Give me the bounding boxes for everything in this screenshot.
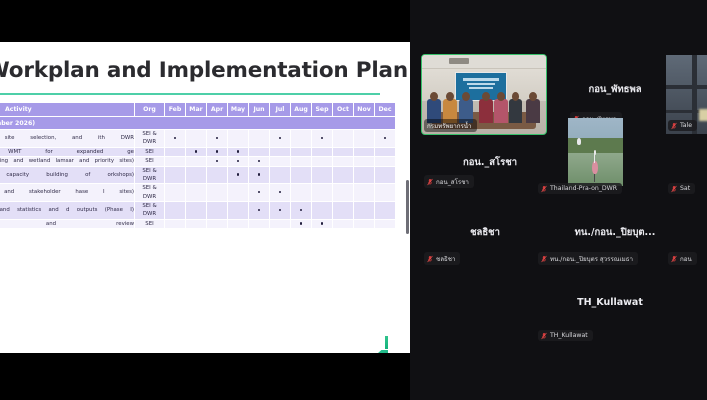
name-card-thailand-praon-dwr: Thailand-Pra-on_DWR: [538, 183, 622, 194]
schedule-dot-icon: [300, 222, 303, 225]
name-card-label: ชลธิชา: [436, 254, 455, 264]
wetland-program-logo: [358, 350, 388, 353]
table-body: eptember 2026)ion, site selection, and i…: [0, 117, 396, 229]
month-cell-oct: [333, 184, 354, 202]
schedule-dot-icon: [258, 209, 261, 212]
table-header-apr: Apr: [207, 103, 228, 117]
name-card-th-kullawat: TH_Kullawat: [538, 330, 593, 341]
month-cell-oct: [333, 147, 354, 156]
month-cell-nov: [354, 219, 375, 228]
name-card-kon-sarocha: กอน_สโรชา: [424, 175, 474, 188]
month-cell-aug: [291, 157, 312, 166]
activity-cell: and capacity building of orkshops): [0, 166, 135, 184]
month-cell-mar: [186, 184, 207, 202]
month-cell-dec: [375, 219, 396, 228]
month-cell-sep: [312, 147, 333, 156]
table-header-activity: Activity: [0, 103, 135, 117]
participant-gallery[interactable]: กรมทรัพยากรน้ำกอน_พัทธพลกอน_พัทธพลTaleกอ…: [410, 0, 707, 400]
schedule-dot-icon: [300, 209, 303, 212]
month-cell-jul: [270, 166, 291, 184]
participant-name-kon-phatthaphon: กอน_พัทธพล: [550, 82, 680, 97]
month-cell-mar: [186, 157, 207, 166]
month-cell-oct: [333, 202, 354, 220]
month-cell-sep: [312, 130, 333, 148]
schedule-dot-icon: [258, 173, 261, 176]
month-cell-aug: [291, 130, 312, 148]
table-header-jul: Jul: [270, 103, 291, 117]
month-cell-may: [228, 202, 249, 220]
month-cell-oct: [333, 157, 354, 166]
video-tile-thailand-praon-dwr[interactable]: [568, 118, 623, 186]
month-cell-aug: [291, 219, 312, 228]
schedule-dot-icon: [195, 150, 198, 153]
activity-cell: of WMT for expanded ge: [0, 147, 135, 156]
month-cell-mar: [186, 202, 207, 220]
month-cell-apr: [207, 166, 228, 184]
month-cell-jun: [249, 166, 270, 184]
slide-title: Workplan and Implementation Plan: [0, 58, 386, 83]
schedule-dot-icon: [321, 137, 324, 140]
month-cell-jul: [270, 219, 291, 228]
month-cell-feb: [165, 147, 186, 156]
month-cell-apr: [207, 202, 228, 220]
schedule-dot-icon: [258, 160, 261, 163]
name-card-label: กอน: [680, 254, 692, 264]
month-cell-feb: [165, 202, 186, 220]
month-cell-dec: [375, 202, 396, 220]
name-card-chonthicha: ชลธิชา: [424, 252, 460, 265]
month-cell-may: [228, 157, 249, 166]
schedule-dot-icon: [279, 209, 282, 212]
gallery-scrollbar[interactable]: [406, 180, 409, 234]
activity-cell: ion, site selection, and ith DWR: [0, 130, 135, 148]
name-card-piyabut: ทน./กอน._ปิยบุตร สุวรรณเมธา: [538, 252, 638, 265]
schedule-dot-icon: [216, 137, 219, 140]
month-cell-jun: [249, 219, 270, 228]
month-cell-apr: [207, 157, 228, 166]
org-cell: SEI &DWR: [135, 166, 165, 184]
name-card-label: ทน./กอน._ปิยบุตร สุวรรณเมธา: [550, 254, 633, 264]
name-card-tale: Tale: [668, 120, 697, 131]
presentation-slide: Workplan and Implementation Plan Activit…: [0, 42, 410, 353]
table-header-dec: Dec: [375, 103, 396, 117]
month-cell-oct: [333, 166, 354, 184]
table-row: and capacity building of orkshops)SEI &D…: [0, 166, 396, 184]
name-card-label: Thailand-Pra-on_DWR: [550, 185, 617, 192]
month-cell-may: [228, 130, 249, 148]
month-cell-sep: [312, 219, 333, 228]
month-cell-apr: [207, 130, 228, 148]
month-cell-nov: [354, 147, 375, 156]
table-header-aug: Aug: [291, 103, 312, 117]
schedule-dot-icon: [237, 173, 240, 176]
mute-microphone-icon: [541, 185, 547, 193]
month-cell-jul: [270, 130, 291, 148]
table-row: ion, site selection, and ith DWRSEI &DWR: [0, 130, 396, 148]
month-cell-nov: [354, 130, 375, 148]
shared-screen-region[interactable]: Workplan and Implementation Plan Activit…: [0, 0, 410, 400]
mute-microphone-icon: [427, 178, 433, 186]
participant-name-kon-sarocha: กอน._สโรชา: [400, 155, 580, 170]
month-cell-jul: [270, 184, 291, 202]
active-speaker-name-overlay: กรมทรัพยากรน้ำ: [424, 119, 477, 132]
table-header-oct: Oct: [333, 103, 354, 117]
month-cell-mar: [186, 130, 207, 148]
month-cell-mar: [186, 147, 207, 156]
month-cell-jun: [249, 184, 270, 202]
month-cell-oct: [333, 219, 354, 228]
mute-microphone-icon: [541, 255, 547, 263]
month-cell-aug: [291, 184, 312, 202]
activity-cell: processing and wetland lamsar and priori…: [0, 157, 135, 166]
month-cell-aug: [291, 202, 312, 220]
month-cell-feb: [165, 157, 186, 166]
mute-microphone-icon: [541, 332, 547, 340]
org-cell: SEI &DWR: [135, 184, 165, 202]
month-cell-dec: [375, 157, 396, 166]
table-header-jun: Jun: [249, 103, 270, 117]
table-row: ng and reviewSEI: [0, 219, 396, 228]
month-cell-jul: [270, 147, 291, 156]
participant-name-th-kullawat: TH_Kullawat: [540, 297, 680, 308]
month-cell-may: [228, 166, 249, 184]
schedule-dot-icon: [384, 137, 387, 140]
month-cell-mar: [186, 219, 207, 228]
month-cell-jun: [249, 130, 270, 148]
zoom-meeting-window: Workplan and Implementation Plan Activit…: [0, 0, 707, 400]
name-card-label: กอน_สโรชา: [436, 177, 469, 187]
org-cell: SEI: [135, 147, 165, 156]
schedule-dot-icon: [279, 137, 282, 140]
month-cell-sep: [312, 184, 333, 202]
table-header-may: May: [228, 103, 249, 117]
month-cell-dec: [375, 147, 396, 156]
org-cell: SEI: [135, 219, 165, 228]
month-cell-feb: [165, 166, 186, 184]
activity-cell: tion and stakeholder hase I sites): [0, 184, 135, 202]
month-cell-nov: [354, 202, 375, 220]
name-card-label: TH_Kullawat: [550, 332, 588, 339]
month-cell-apr: [207, 219, 228, 228]
month-cell-jun: [249, 202, 270, 220]
month-cell-jul: [270, 157, 291, 166]
month-cell-dec: [375, 184, 396, 202]
month-cell-may: [228, 219, 249, 228]
table-header-row: ActivityOrgFebMarAprMayJunJulAugSepOctNo…: [0, 103, 396, 117]
table-row: f wetland statistics and d outputs (Phas…: [0, 202, 396, 220]
month-cell-may: [228, 184, 249, 202]
table-header-feb: Feb: [165, 103, 186, 117]
month-cell-nov: [354, 184, 375, 202]
month-cell-oct: [333, 130, 354, 148]
month-cell-jun: [249, 157, 270, 166]
month-cell-sep: [312, 202, 333, 220]
month-cell-nov: [354, 157, 375, 166]
schedule-dot-icon: [279, 191, 282, 194]
mute-microphone-icon: [671, 255, 677, 263]
month-cell-aug: [291, 147, 312, 156]
table-row: of WMT for expanded geSEI: [0, 147, 396, 156]
org-cell: SEI &DWR: [135, 202, 165, 220]
schedule-dot-icon: [174, 137, 177, 140]
org-cell: SEI &DWR: [135, 130, 165, 148]
schedule-dot-icon: [258, 191, 261, 194]
month-cell-may: [228, 147, 249, 156]
schedule-dot-icon: [216, 160, 219, 163]
table-header-sep: Sep: [312, 103, 333, 117]
name-card-label: Sat: [680, 185, 690, 192]
month-cell-feb: [165, 219, 186, 228]
month-cell-sep: [312, 166, 333, 184]
month-cell-apr: [207, 147, 228, 156]
name-card-sat: Sat: [668, 183, 695, 194]
month-cell-feb: [165, 130, 186, 148]
table-header-mar: Mar: [186, 103, 207, 117]
month-cell-jul: [270, 202, 291, 220]
schedule-dot-icon: [237, 160, 240, 163]
name-card-label: Tale: [680, 122, 692, 129]
mute-microphone-icon: [671, 122, 677, 130]
month-cell-mar: [186, 166, 207, 184]
schedule-dot-icon: [216, 150, 219, 153]
org-cell: SEI: [135, 157, 165, 166]
month-cell-apr: [207, 184, 228, 202]
month-cell-jun: [249, 147, 270, 156]
table-phase-row: eptember 2026): [0, 117, 396, 130]
table-header-nov: Nov: [354, 103, 375, 117]
activity-cell: f wetland statistics and d outputs (Phas…: [0, 202, 135, 220]
schedule-dot-icon: [237, 150, 240, 153]
name-card-kon-right: กอน: [668, 252, 697, 265]
month-cell-dec: [375, 130, 396, 148]
table-header-org: Org: [135, 103, 165, 117]
workplan-table: ActivityOrgFebMarAprMayJunJulAugSepOctNo…: [0, 102, 396, 229]
mute-microphone-icon: [427, 255, 433, 263]
title-underline-rule: [0, 93, 380, 95]
phase-label: eptember 2026): [0, 117, 396, 130]
table-row: processing and wetland lamsar and priori…: [0, 157, 396, 166]
month-cell-dec: [375, 166, 396, 184]
month-cell-aug: [291, 166, 312, 184]
month-cell-feb: [165, 184, 186, 202]
activity-cell: ng and review: [0, 219, 135, 228]
video-tile-krom-sapphayakorn-nam[interactable]: กรมทรัพยากรน้ำ: [422, 55, 546, 134]
mute-microphone-icon: [671, 185, 677, 193]
month-cell-nov: [354, 166, 375, 184]
participant-name-piyabut: ทน./กอน._ปิยบุต...: [530, 225, 700, 240]
schedule-dot-icon: [321, 222, 324, 225]
table-row: tion and stakeholder hase I sites)SEI &D…: [0, 184, 396, 202]
month-cell-sep: [312, 157, 333, 166]
